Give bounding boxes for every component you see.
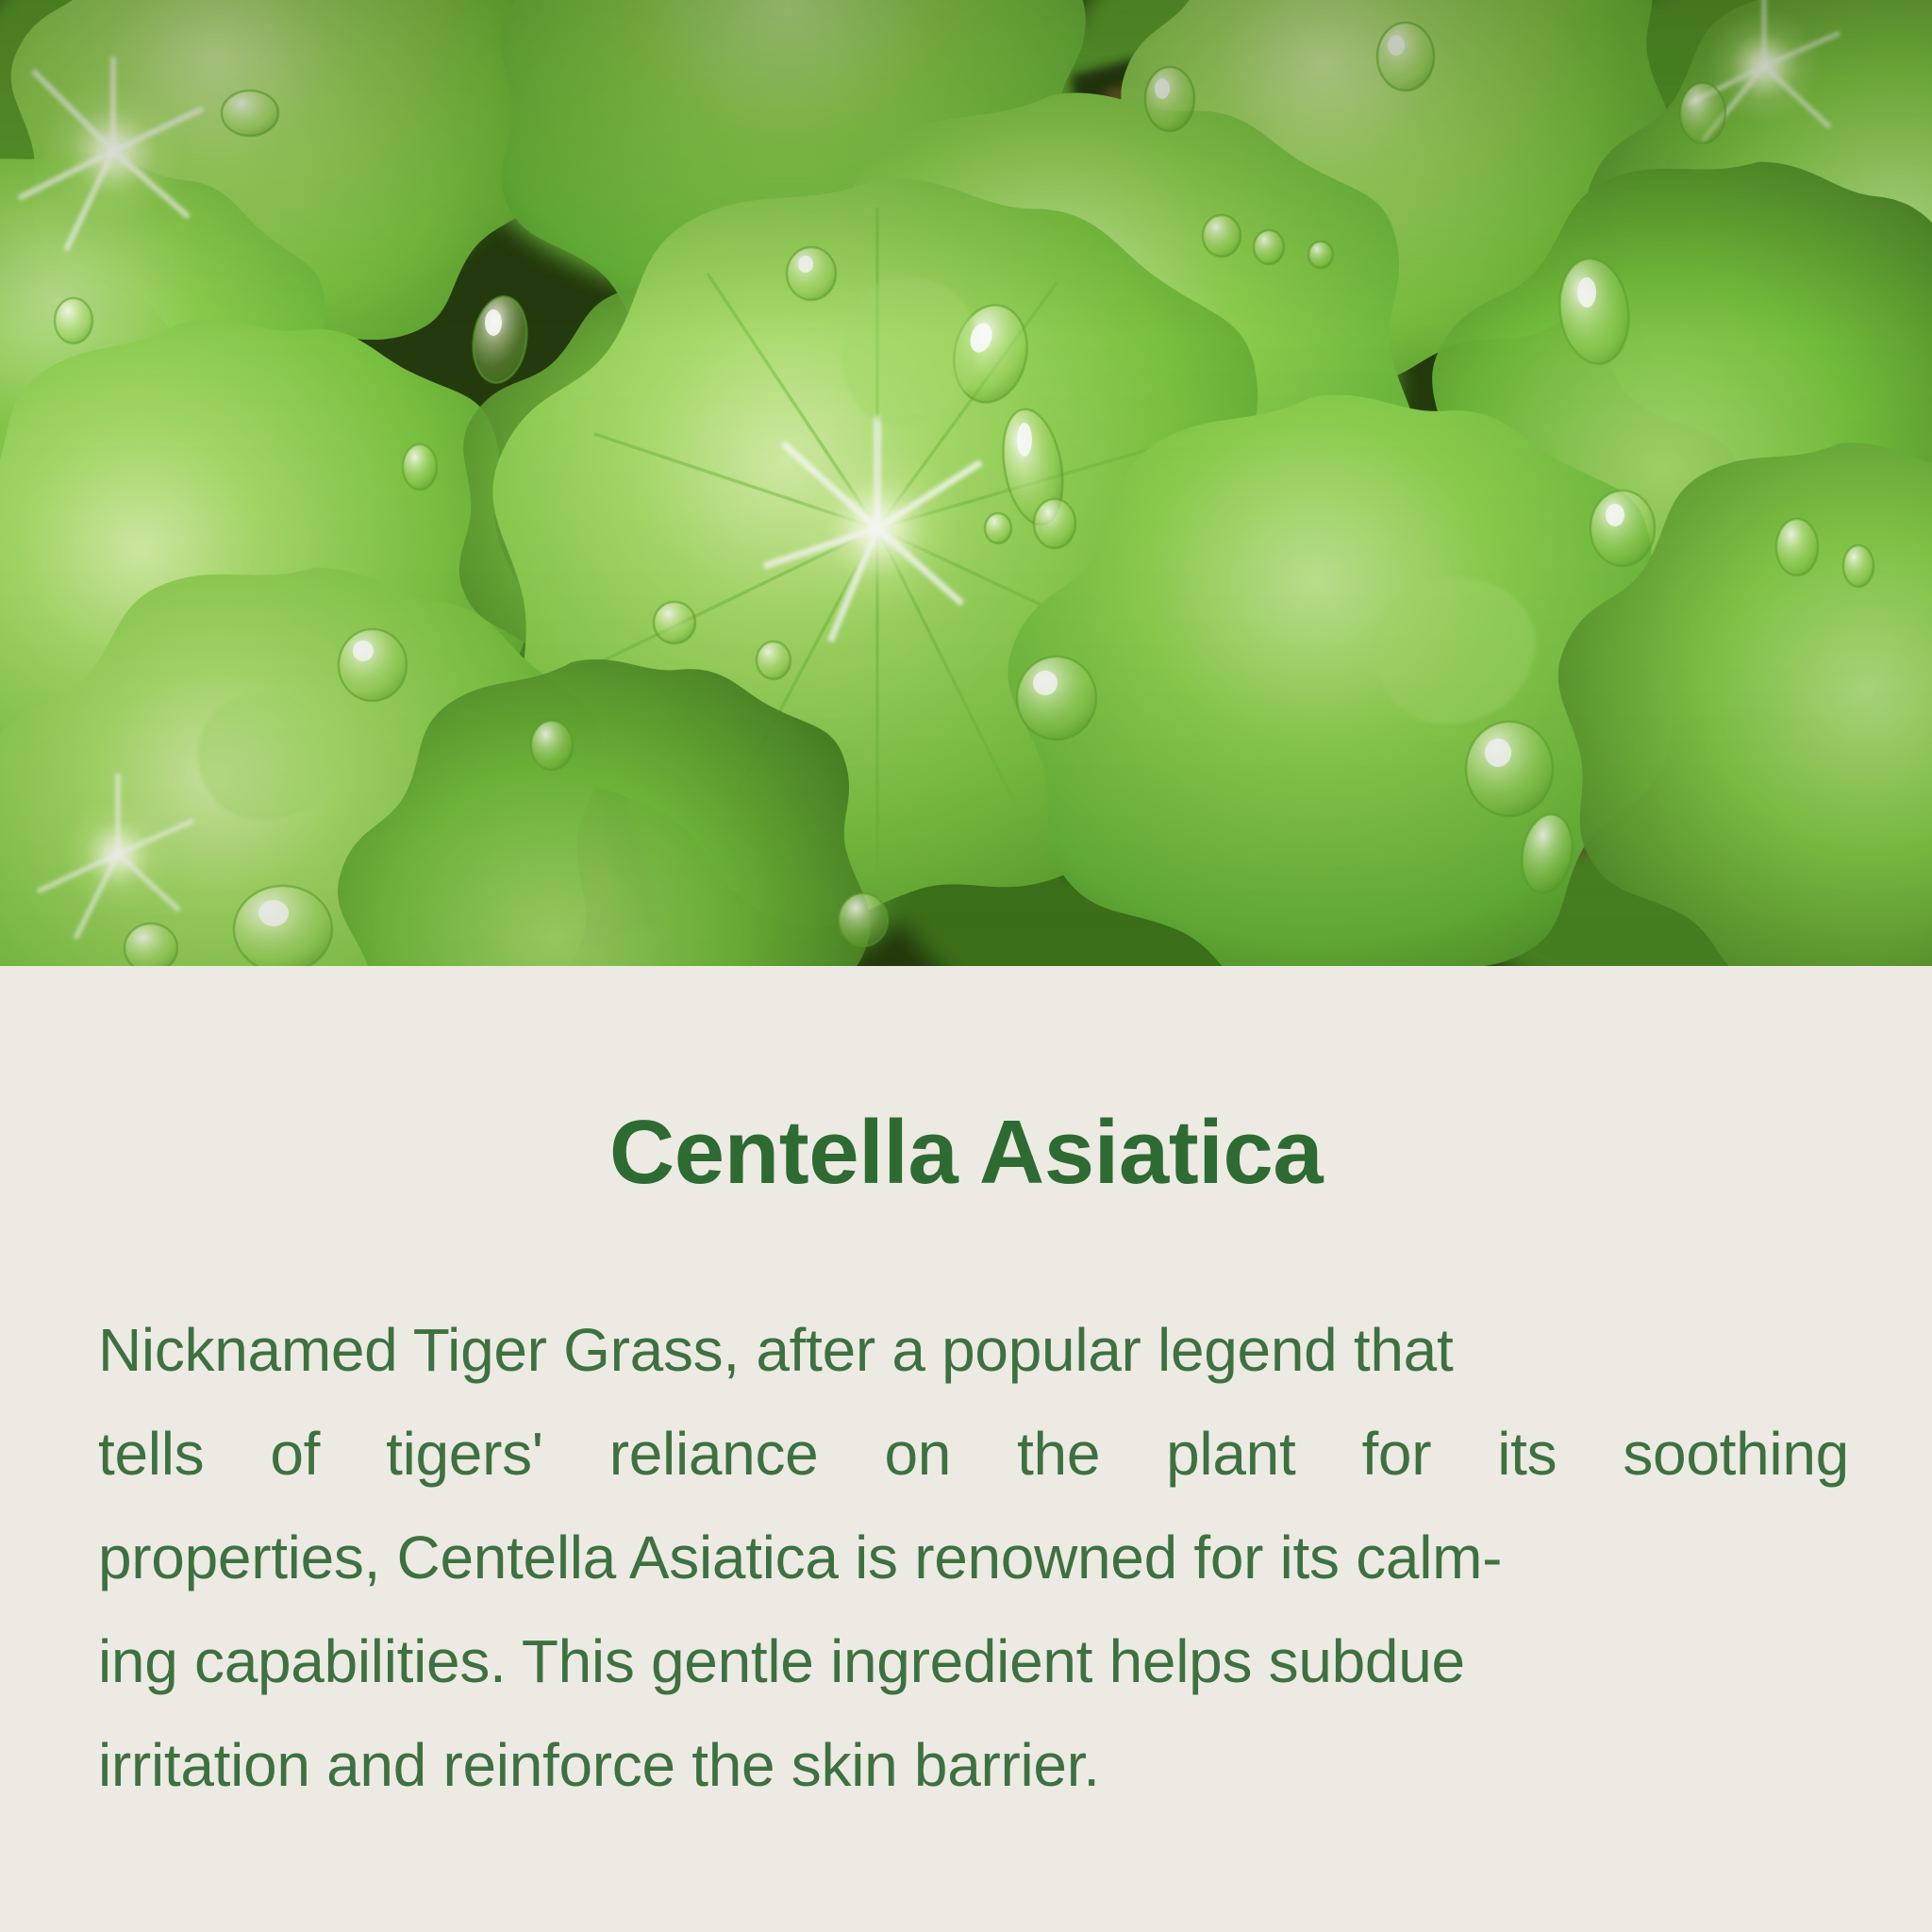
- centella-leaves-illustration: [0, 0, 1932, 966]
- description-word: reliance: [609, 1402, 819, 1506]
- description-word: tells: [98, 1402, 204, 1506]
- description-word: tigers': [386, 1402, 543, 1506]
- ingredient-card: Centella Asiatica Nicknamed Tiger Grass,…: [0, 0, 1932, 1932]
- description-line-3: properties, Centella Asiatica is renowne…: [98, 1506, 1849, 1609]
- description-word: the: [1017, 1402, 1100, 1506]
- description-word: plant: [1166, 1402, 1295, 1506]
- description-line-1: Nicknamed Tiger Grass, after a popular l…: [98, 1298, 1849, 1402]
- page-title: Centella Asiatica: [0, 1108, 1932, 1198]
- description-word: on: [884, 1402, 951, 1506]
- description-word: of: [270, 1402, 320, 1506]
- description-line-4: ing capabilities. This gentle ingredient…: [98, 1609, 1849, 1713]
- description-word: its: [1497, 1402, 1557, 1506]
- text-panel: Centella Asiatica Nicknamed Tiger Grass,…: [0, 966, 1932, 1932]
- hero-image: [0, 0, 1932, 966]
- description-word: for: [1361, 1402, 1431, 1506]
- description-line-2: tells of tigers' reliance on the plant f…: [98, 1402, 1849, 1506]
- description-text: Nicknamed Tiger Grass, after a popular l…: [98, 1298, 1849, 1817]
- description-word: soothing: [1623, 1402, 1849, 1506]
- description-line-5: irritation and reinforce the skin barrie…: [98, 1713, 1849, 1817]
